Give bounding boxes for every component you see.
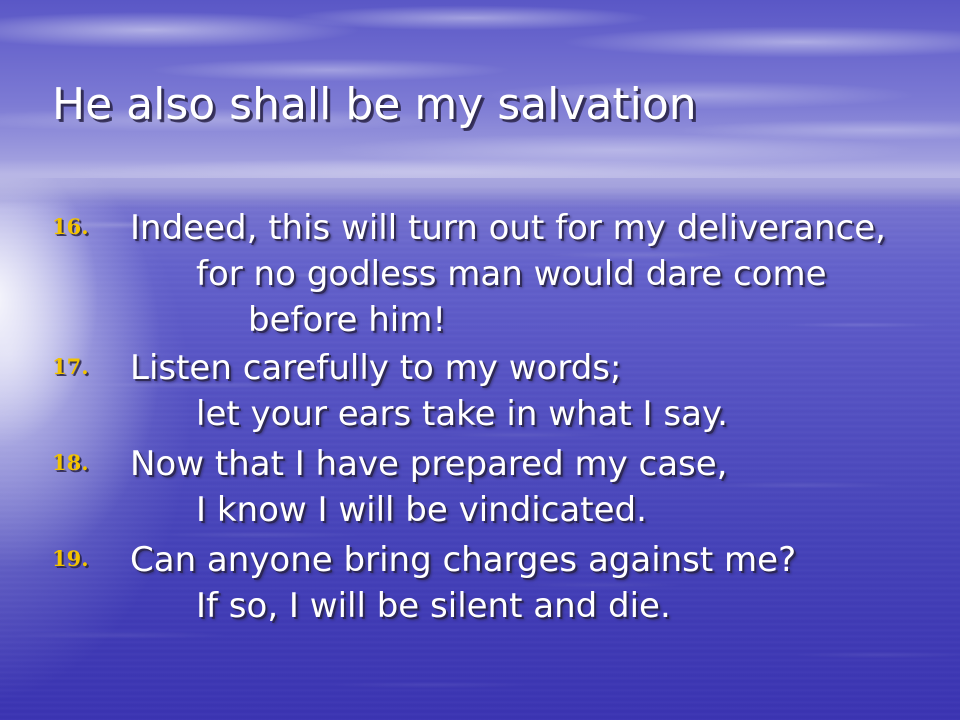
verse-line: Can anyone bring charges against me? [130,537,960,583]
verse-number: 18. [52,450,108,475]
verse-line: I know I will be vindicated. [196,487,960,533]
verse-text: Can anyone bring charges against me? If … [130,537,960,629]
slide-title: He also shall be my salvation [52,78,912,132]
verse-item: 17. Listen carefully to my words; let yo… [0,345,960,437]
verse-text: Now that I have prepared my case, I know… [130,441,960,533]
verse-line: If so, I will be silent and die. [196,583,960,629]
verse-line: before him! [248,297,960,343]
verse-item: 18. Now that I have prepared my case, I … [0,441,960,533]
verse-text: Indeed, this will turn out for my delive… [130,205,960,343]
verse-number: 17. [52,354,108,379]
verse-text: Listen carefully to my words; let your e… [130,345,960,437]
verse-item: 19. Can anyone bring charges against me?… [0,537,960,629]
verse-line: Indeed, this will turn out for my delive… [130,205,960,251]
verse-item: 16. Indeed, this will turn out for my de… [0,205,960,343]
verse-line: for no godless man would dare come [196,251,960,297]
verse-line: let your ears take in what I say. [196,391,960,437]
verse-list: 16. Indeed, this will turn out for my de… [0,205,960,629]
verse-number: 19. [52,546,108,571]
verse-line: Now that I have prepared my case, [130,441,960,487]
verse-number: 16. [52,214,108,239]
presentation-slide: He also shall be my salvation 16. Indeed… [0,0,960,720]
verse-line: Listen carefully to my words; [130,345,960,391]
